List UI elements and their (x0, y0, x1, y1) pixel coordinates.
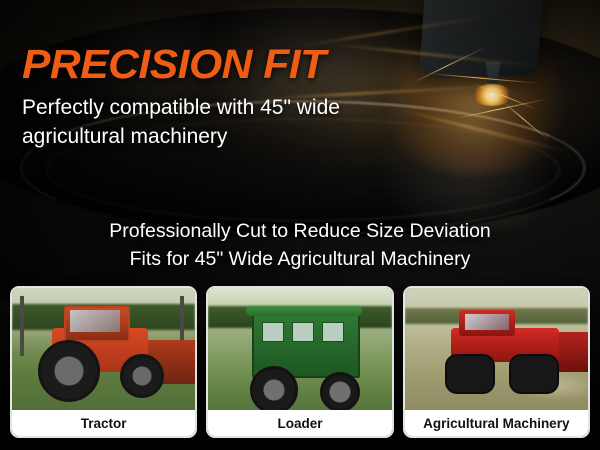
card-caption: Loader (208, 410, 391, 436)
page-title: PRECISION FIT (22, 44, 326, 85)
application-cards: Tractor Loader (10, 286, 590, 438)
tractor-front-wheel (120, 354, 164, 398)
loader-rear-wheel (250, 366, 298, 414)
machine-track-front (509, 354, 559, 394)
card-caption: Tractor (12, 410, 195, 436)
feature-text-line-2: Fits for 45" Wide Agricultural Machinery (0, 246, 600, 274)
card-caption: Agricultural Machinery (405, 410, 588, 436)
loader-window (262, 322, 284, 342)
loader-window (322, 322, 344, 342)
application-card-tractor[interactable]: Tractor (10, 286, 197, 438)
feature-text-line-1: Professionally Cut to Reduce Size Deviat… (0, 218, 600, 246)
loader-window (292, 322, 314, 342)
product-banner: PRECISION FIT Perfectly compatible with … (0, 0, 600, 450)
feature-text: Professionally Cut to Reduce Size Deviat… (0, 218, 600, 273)
loader-front-wheel (320, 372, 360, 412)
loader-roof (246, 306, 362, 316)
application-card-agricultural-machinery[interactable]: Agricultural Machinery (403, 286, 590, 438)
machine-track-rear (445, 354, 495, 394)
machine-cab-glass (465, 314, 509, 330)
subheadline: Perfectly compatible with 45" wide agric… (22, 94, 442, 152)
tractor-cab-glass (70, 310, 120, 332)
fence-post (20, 296, 24, 356)
application-card-loader[interactable]: Loader (206, 286, 393, 438)
tractor-rear-wheel (38, 340, 100, 402)
